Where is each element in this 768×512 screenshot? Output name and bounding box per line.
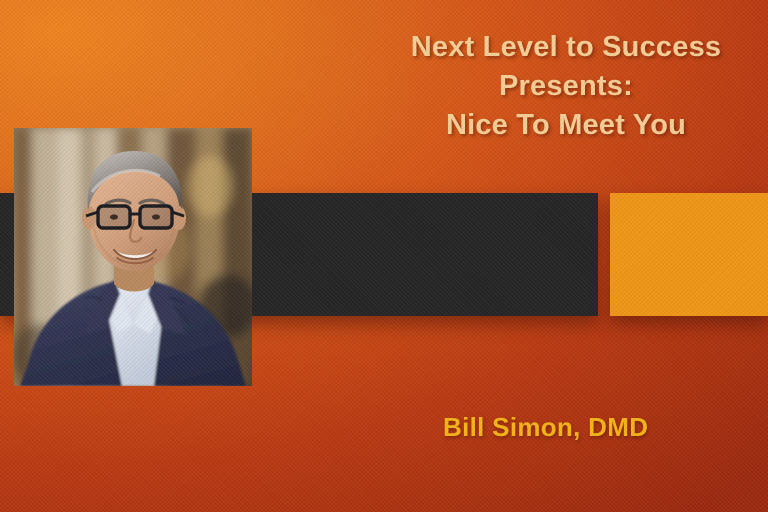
portrait-photo-graphic [14, 128, 252, 386]
slide-title: Next Level to Success Presents: Nice To … [366, 28, 766, 145]
title-line-1: Next Level to Success [366, 28, 766, 67]
presenter-photo [14, 128, 252, 386]
title-line-2: Presents: [366, 67, 766, 106]
amber-accent-block [610, 193, 768, 316]
title-line-3: Nice To Meet You [366, 106, 766, 145]
presenter-name: Bill Simon, DMD [443, 412, 648, 443]
presentation-slide: Next Level to Success Presents: Nice To … [0, 0, 768, 512]
